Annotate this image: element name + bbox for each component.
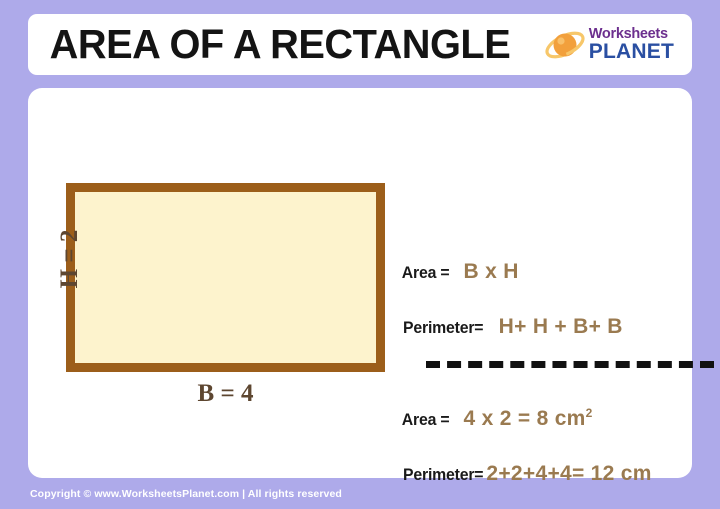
title-card: AREA OF A RECTANGLE Worksheets PLANET <box>28 14 692 75</box>
formula-area-example-label: Area = <box>402 410 450 430</box>
formula-perimeter-general-expression: H+ H + B+ B <box>486 315 622 339</box>
main-content-card: H = 2 B = 4 Area = B x H Perimeter= H+ H… <box>28 88 692 478</box>
area-unit-exponent: 2 <box>586 406 593 420</box>
copyright-text: Copyright © www.WorksheetsPlanet.com | A… <box>0 488 342 500</box>
formula-perimeter-general-label: Perimeter= <box>403 318 483 338</box>
planet-icon <box>544 26 586 64</box>
brand-logo[interactable]: Worksheets PLANET <box>544 26 678 64</box>
logo-wordmark: Worksheets PLANET <box>589 28 674 61</box>
logo-planet-text: PLANET <box>589 42 674 61</box>
base-label: B = 4 <box>66 380 385 408</box>
formula-area-general: Area = B x H <box>400 260 519 284</box>
formula-area-example: Area = 4 x 2 = 8 cm2 <box>400 406 593 431</box>
dashed-divider <box>426 361 714 368</box>
rectangle-shape <box>66 183 385 372</box>
formula-perimeter-general: Perimeter= H+ H + B+ B <box>400 315 623 339</box>
height-label: H = 2 <box>56 211 84 307</box>
formula-area-example-expression: 4 x 2 = 8 cm2 <box>451 406 592 431</box>
footer-bar: Copyright © www.WorksheetsPlanet.com | A… <box>0 478 720 509</box>
formula-area-general-expression: B x H <box>451 260 518 284</box>
formula-panel: Area = B x H Perimeter= H+ H + B+ B Area… <box>400 88 692 478</box>
figure-area: H = 2 B = 4 <box>28 88 400 478</box>
page-title: AREA OF A RECTANGLE <box>38 24 510 65</box>
formula-area-general-label: Area = <box>402 263 450 283</box>
